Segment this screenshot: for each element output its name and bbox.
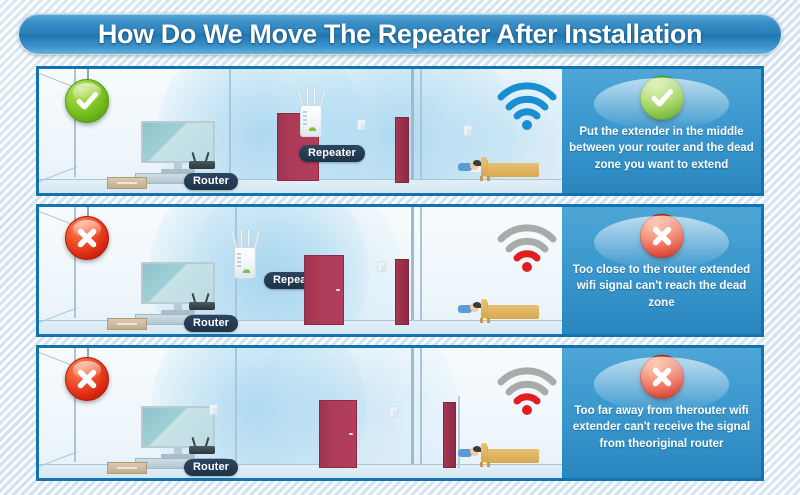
router-body <box>189 302 215 310</box>
door-knob <box>349 433 353 435</box>
page-title-banner: How Do We Move The Repeater After Instal… <box>18 13 782 55</box>
status-badge-bad-caption <box>640 355 684 399</box>
wifi-signal-icon <box>495 81 559 131</box>
cross-circle-icon <box>649 223 675 249</box>
wall-divider-2b <box>420 69 422 193</box>
door-frame-far <box>458 396 460 468</box>
light-switch-icon-left <box>209 404 218 415</box>
router-label: Router <box>184 315 238 332</box>
television-icon <box>141 406 215 448</box>
cabinet-handle <box>117 323 137 325</box>
status-badge-bad <box>65 216 109 260</box>
wall-divider-2b <box>420 348 422 478</box>
check-circle-icon <box>649 85 675 111</box>
page-title: How Do We Move The Repeater After Instal… <box>98 19 702 50</box>
door-icon-middle <box>304 255 344 325</box>
cabinet-handle <box>117 182 137 184</box>
bed-frame <box>485 163 539 177</box>
door-icon-far <box>443 402 456 468</box>
status-badge-bad-caption <box>640 214 684 258</box>
repeater-led-1 <box>303 111 307 113</box>
light-switch-icon-middle <box>357 119 366 130</box>
panel-correct-placement: Router Repeater <box>36 66 764 196</box>
bed-leg-left <box>487 318 490 323</box>
wall-divider-1 <box>235 348 237 478</box>
door-icon-middle <box>319 400 357 468</box>
bed-leg-right <box>480 462 483 467</box>
router-label: Router <box>184 173 238 190</box>
television-icon <box>141 121 215 163</box>
wall-divider-2 <box>411 69 414 193</box>
bed-leg-left <box>487 176 490 181</box>
cross-circle-icon <box>649 364 675 390</box>
check-circle-icon <box>74 88 100 114</box>
repeater-led-2 <box>303 115 307 117</box>
scene-too-far: Router <box>39 348 562 478</box>
bed-headboard <box>481 157 487 176</box>
light-switch-icon-middle <box>377 261 386 272</box>
bed-leg-right <box>480 318 483 323</box>
cabinet <box>107 177 147 189</box>
caption-text: Too far away from therouter wifi extende… <box>562 403 761 452</box>
cabinet-handle <box>117 467 137 469</box>
bed-leg-right <box>480 176 483 181</box>
repeater-led-3 <box>303 119 307 121</box>
caption-text: Put the extender in the middle between y… <box>562 124 761 173</box>
caption-panel-too-far: Too far away from therouter wifi extende… <box>562 348 761 478</box>
status-badge-bad <box>65 357 109 401</box>
status-badge-ok-caption <box>640 76 684 120</box>
status-badge-ok <box>65 79 109 123</box>
router-body <box>189 446 215 454</box>
sleeping-person-hair <box>473 446 481 452</box>
bed-frame <box>485 449 539 463</box>
light-switch-icon-bedroom <box>463 125 472 136</box>
router-body <box>189 161 215 169</box>
caption-text: Too close to the router extended wifi si… <box>562 262 761 311</box>
door-icon-far <box>395 259 409 325</box>
repeater-led-2 <box>237 257 241 259</box>
cross-circle-icon <box>74 366 100 392</box>
caption-panel-correct-placement: Put the extender in the middle between y… <box>562 69 761 193</box>
wifi-signal-icon <box>495 366 559 416</box>
bed-headboard <box>481 443 487 462</box>
cross-circle-icon <box>74 225 100 251</box>
scene-correct-placement: Router Repeater <box>39 69 562 193</box>
repeater-led-3 <box>237 261 241 263</box>
bed-headboard <box>481 299 487 318</box>
cabinet <box>107 318 147 330</box>
repeater-led-1 <box>237 253 241 255</box>
bed-frame <box>485 305 539 319</box>
wall-divider-2 <box>411 207 414 334</box>
repeater-label: Repeater <box>299 145 365 162</box>
caption-panel-too-close: Too close to the router extended wifi si… <box>562 207 761 334</box>
repeater-body <box>300 105 322 137</box>
repeater-body <box>234 247 256 279</box>
wall-divider-2b <box>420 207 422 334</box>
sleeping-person-hair <box>473 302 481 308</box>
wall-divider-2 <box>411 348 414 478</box>
light-switch-icon-middle <box>389 406 398 417</box>
repeater-logo <box>241 266 252 273</box>
sleeping-person-hair <box>473 160 481 166</box>
panel-too-far: Router <box>36 345 764 481</box>
door-knob <box>336 289 340 291</box>
panel-too-close: Router Repeater <box>36 204 764 337</box>
router-label: Router <box>184 459 238 476</box>
scene-too-close: Router Repeater <box>39 207 562 334</box>
repeater-logo <box>307 124 318 131</box>
bed-leg-left <box>487 462 490 467</box>
cabinet <box>107 462 147 474</box>
door-icon-far <box>395 117 409 183</box>
wifi-signal-icon <box>495 223 559 273</box>
television-icon <box>141 262 215 304</box>
